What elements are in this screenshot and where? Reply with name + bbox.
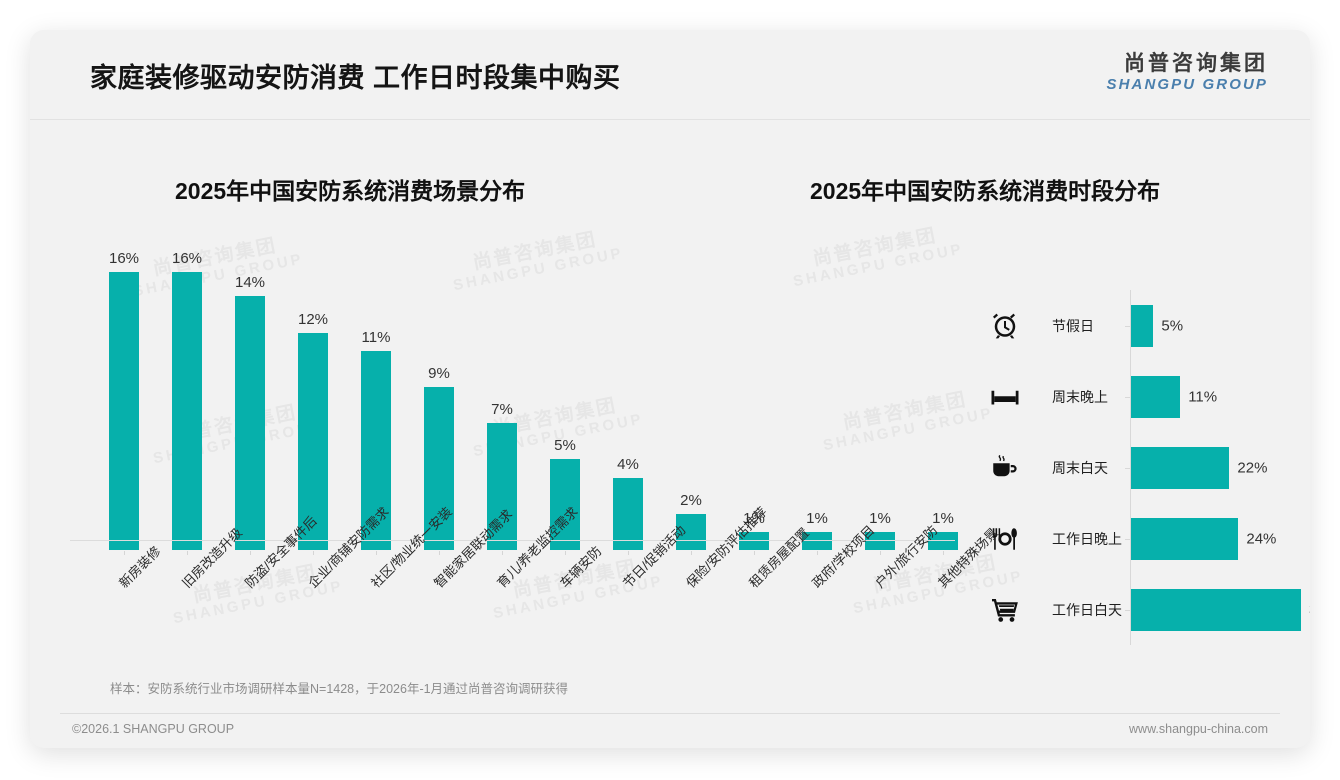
time-distribution-chart: 节假日5%周末晚上11%周末白天22%工作日晚上24%工作日白天38% (970, 290, 1300, 650)
bar-value-label: 24% (1246, 531, 1276, 548)
left-chart-title: 2025年中国安防系统消费场景分布 (175, 172, 525, 206)
bar-value-label: 11% (362, 329, 391, 346)
bar-value-label: 1% (869, 510, 891, 527)
bed-icon (988, 380, 1022, 414)
axis-tick (1125, 610, 1130, 611)
bar-value-label: 9% (428, 365, 450, 382)
bar-column[interactable]: 1% (911, 250, 975, 550)
bar-value-label: 14% (235, 274, 265, 291)
bar-value-label: 11% (1188, 389, 1217, 406)
sample-footnote: 样本：安防系统行业市场调研样本量N=1428，于2026年-1月通过尚普咨询调研… (110, 678, 568, 697)
bar-value-label: 4% (617, 456, 639, 473)
time-slot-label: 工作日白天 (1052, 600, 1122, 620)
shopping-cart-icon (988, 593, 1022, 627)
infographic-card: 尚普咨询集团 SHANGPU GROUP 尚普咨询集团 SHANGPU GROU… (30, 30, 1310, 748)
bar-fill[interactable] (1131, 589, 1301, 631)
axis-tick (376, 551, 377, 555)
header: 家庭装修驱动安防消费 工作日时段集中购买 尚普咨询集团 SHANGPU GROU… (30, 30, 1310, 120)
axis-tick (1125, 397, 1130, 398)
bar-column[interactable]: 2% (659, 250, 723, 550)
axis-tick (187, 551, 188, 555)
time-slot-row[interactable]: 工作日晚上24% (970, 511, 1300, 567)
time-slot-label: 节假日 (1052, 316, 1094, 336)
axis-tick (817, 551, 818, 555)
axis-tick (691, 551, 692, 555)
bar-fill[interactable] (109, 272, 139, 550)
bar-value-label: 1% (932, 510, 954, 527)
bar-column[interactable]: 16% (92, 250, 156, 550)
bar-fill[interactable] (1131, 376, 1180, 418)
bar-fill[interactable] (1131, 447, 1229, 489)
brand-logo: 尚普咨询集团 SHANGPU GROUP (1107, 52, 1268, 94)
bar-column[interactable]: 1% (848, 250, 912, 550)
axis-tick (754, 551, 755, 555)
bar-value-label: 7% (491, 401, 513, 418)
copyright-text: ©2026.1 SHANGPU GROUP (72, 722, 234, 736)
left-chart-baseline (70, 540, 955, 541)
time-slot-label: 周末晚上 (1052, 387, 1108, 407)
axis-tick (880, 551, 881, 555)
bar-value-label: 5% (1161, 318, 1183, 335)
axis-tick (943, 551, 944, 555)
axis-tick (1125, 326, 1130, 327)
axis-tick (1125, 539, 1130, 540)
bar-column[interactable]: 4% (596, 250, 660, 550)
logo-english-text: SHANGPU GROUP (1107, 76, 1268, 94)
coffee-cup-icon (988, 451, 1022, 485)
bar-fill[interactable] (1131, 518, 1238, 560)
time-slot-row[interactable]: 节假日5% (970, 298, 1300, 354)
bar-value-label: 38% (1309, 602, 1310, 619)
bar-value-label: 22% (1237, 460, 1267, 477)
axis-tick (439, 551, 440, 555)
website-link[interactable]: www.shangpu-china.com (1129, 722, 1268, 736)
bar-column[interactable]: 1% (785, 250, 849, 550)
axis-tick (502, 551, 503, 555)
axis-tick (565, 551, 566, 555)
logo-chinese-text: 尚普咨询集团 (1107, 52, 1268, 76)
bar-value-label: 2% (680, 492, 702, 509)
scene-distribution-chart: 16%16%14%12%11%9%7%5%4%2%1%1%1%1% (70, 250, 950, 550)
bar-column[interactable]: 12% (281, 250, 345, 550)
bar-value-label: 16% (172, 250, 202, 267)
bar-value-label: 16% (109, 250, 139, 267)
page-title: 家庭装修驱动安防消费 工作日时段集中购买 (90, 56, 621, 95)
bar-value-label: 5% (554, 437, 576, 454)
axis-tick (313, 551, 314, 555)
axis-tick (124, 551, 125, 555)
bar-value-label: 1% (806, 510, 828, 527)
right-chart-title: 2025年中国安防系统消费时段分布 (810, 172, 1160, 206)
bar-column[interactable]: 16% (155, 250, 219, 550)
time-slot-label: 周末白天 (1052, 458, 1108, 478)
time-slot-row[interactable]: 周末晚上11% (970, 369, 1300, 425)
axis-tick (250, 551, 251, 555)
bar-fill[interactable] (235, 296, 265, 550)
bar-column[interactable]: 14% (218, 250, 282, 550)
bar-fill[interactable] (1131, 305, 1153, 347)
time-slot-row[interactable]: 工作日白天38% (970, 582, 1300, 638)
time-slot-label: 工作日晚上 (1052, 529, 1122, 549)
footer-divider (60, 713, 1280, 714)
bar-fill[interactable] (172, 272, 202, 550)
axis-tick (1125, 468, 1130, 469)
bar-value-label: 12% (298, 311, 328, 328)
alarm-clock-icon (988, 309, 1022, 343)
axis-tick (628, 551, 629, 555)
time-slot-row[interactable]: 周末白天22% (970, 440, 1300, 496)
